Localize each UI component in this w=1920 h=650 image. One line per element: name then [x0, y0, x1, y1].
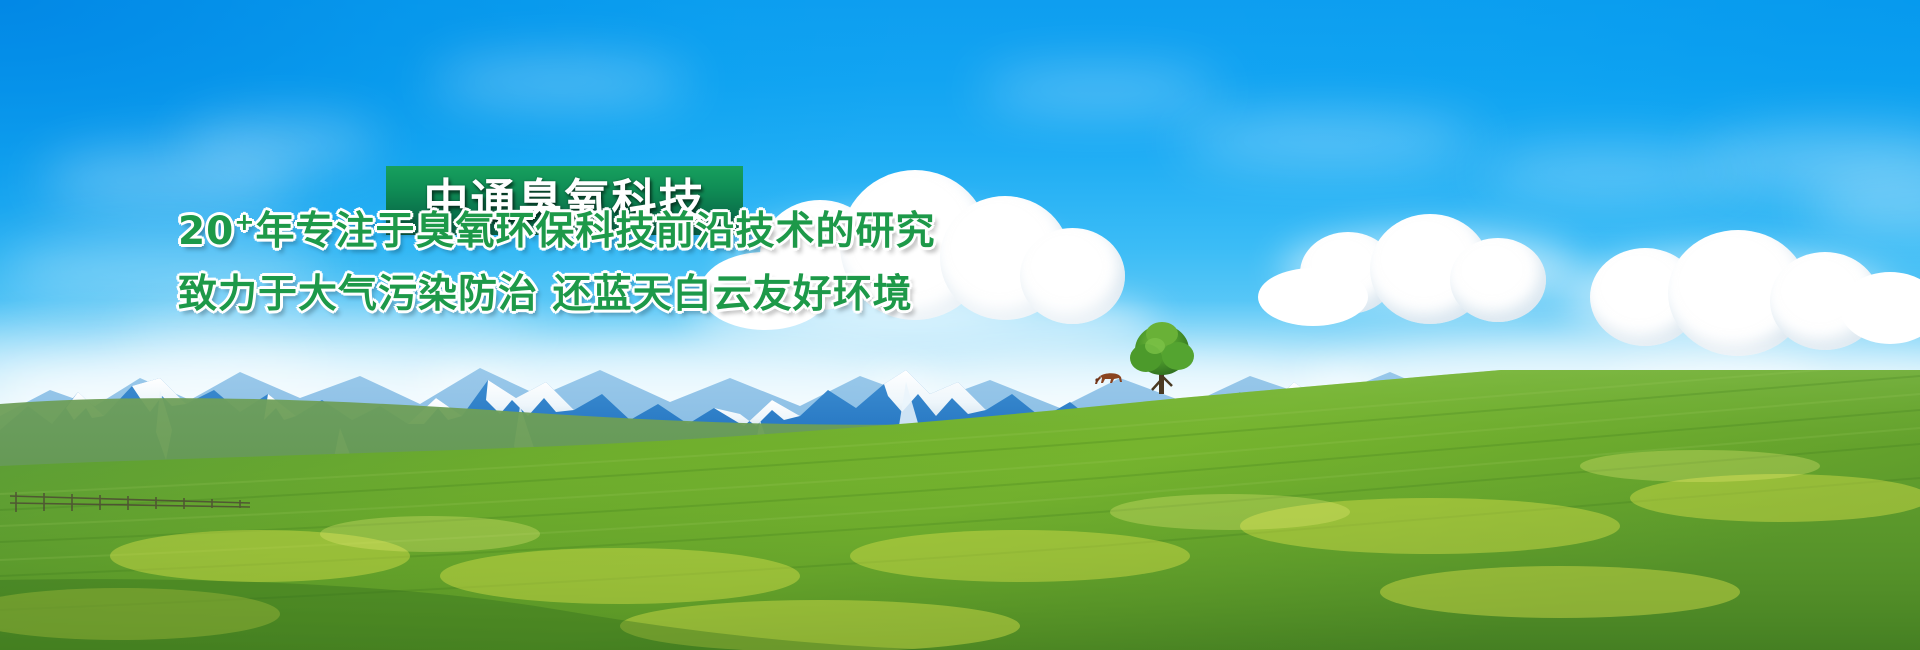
tagline-1-plus-superscript: + [234, 208, 255, 236]
lone-tree [1122, 318, 1202, 394]
hero-banner: 中通臭氧科技 20+年专注于臭氧环保科技前沿技术的研究 致力于大气污染防治 还蓝… [0, 0, 1920, 650]
tagline-2-text: 致力于大气污染防治 还蓝天白云友好环境 [178, 272, 913, 317]
grass-hill [0, 370, 1920, 650]
grazing-horse [1094, 368, 1128, 390]
fence [10, 482, 250, 522]
tagline-1-text: 年专注于臭氧环保科技前沿技术的研究 [256, 209, 936, 254]
tagline-1-years: 20 [178, 209, 234, 254]
tagline-line-2[interactable]: 致力于大气污染防治 还蓝天白云友好环境 [178, 275, 913, 314]
tagline-line-1[interactable]: 20+年专注于臭氧环保科技前沿技术的研究 [178, 212, 936, 251]
